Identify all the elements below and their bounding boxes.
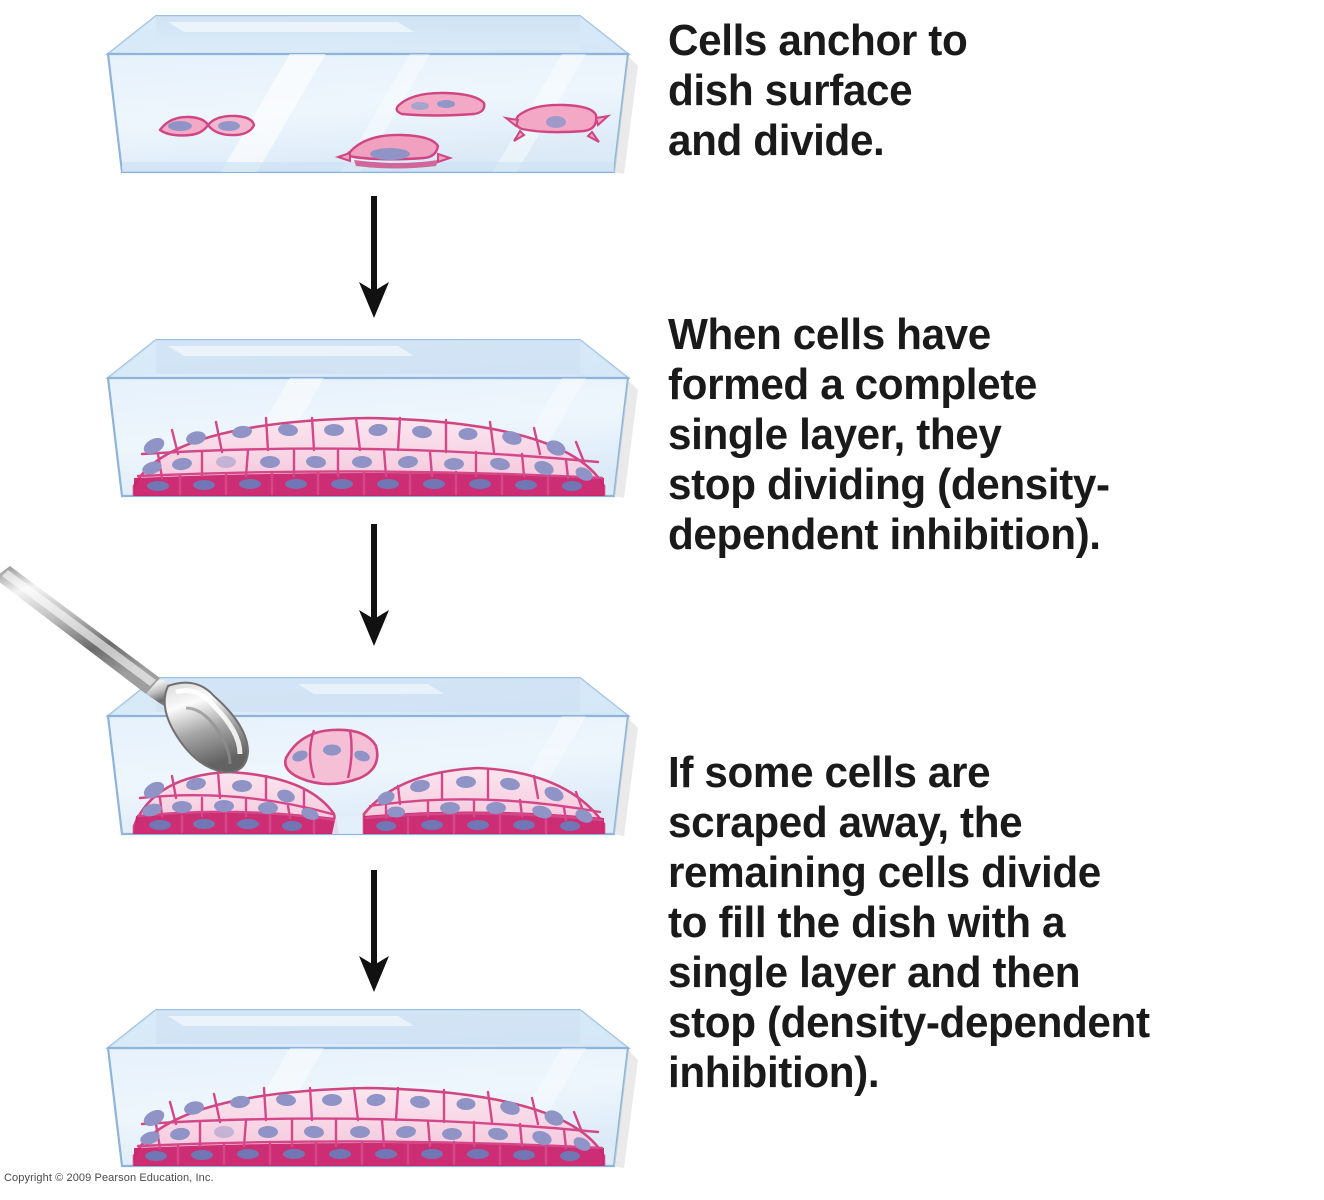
flow-arrow-1 [357,196,391,318]
scraped-gap-region [332,816,366,834]
culture-dish-scraped [98,664,638,854]
caption-step-2: When cells have formed a complete single… [668,310,1110,560]
flow-arrow-2 [357,524,391,646]
culture-dish-refilled [98,996,638,1186]
density-dependent-inhibition-figure: Cells anchor to dish surface and divide.… [0,0,1324,1200]
culture-dish-confluent [98,326,638,516]
caption-step-1: Cells anchor to dish surface and divide. [668,16,967,166]
flow-arrow-3 [357,870,391,992]
copyright-notice: Copyright © 2009 Pearson Education, Inc. [4,1172,214,1184]
caption-step-3: If some cells are scraped away, the rema… [668,748,1150,1098]
culture-dish-scattered [98,2,638,192]
